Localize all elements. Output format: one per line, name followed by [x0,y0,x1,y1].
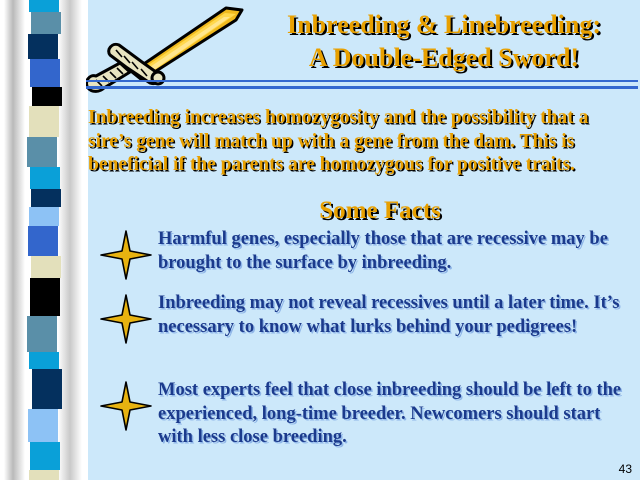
color-band [29,207,59,226]
page-number: 43 [619,462,632,476]
color-band [31,189,61,207]
star-bullet-icon [100,381,152,431]
color-band [29,0,59,12]
color-band [32,369,62,409]
body-paragraph: Inbreeding increases homozygosity and th… [88,106,633,177]
color-band [29,352,59,369]
subheading-some-facts: Some Facts [170,197,590,225]
color-band [27,316,57,352]
sword-quillon-ring [152,72,164,84]
title-divider-line-lower [86,86,638,89]
title-divider-line-upper [86,80,638,82]
sword-clipart [86,0,266,105]
color-band [30,59,60,87]
star-bullet-icon [100,230,152,280]
color-band [30,278,60,316]
bullet-text-3: Most experts feel that close inbreeding … [158,379,636,450]
page-title: Inbreeding & Linebreeding: A Double-Edge… [248,8,640,74]
color-band [31,12,61,34]
bullet-text-1: Harmful genes, especially those that are… [158,228,636,275]
color-band [30,442,60,470]
decorative-left-band [0,0,88,480]
decorative-color-strip [29,0,59,480]
bullet-text-2: Inbreeding may not reveal recessives unt… [158,292,636,339]
color-band [29,470,59,480]
color-band [28,226,58,256]
color-band [32,87,62,106]
color-band [31,256,61,278]
slide-canvas: Inbreeding & Linebreeding: A Double-Edge… [0,0,640,480]
color-band [29,106,59,137]
title-line-1: Inbreeding & Linebreeding: [248,8,640,41]
star-bullet-icon [100,294,152,344]
title-line-2: A Double-Edged Sword! [248,41,640,74]
color-band [30,167,60,189]
color-band [28,409,58,442]
color-band [28,34,58,59]
color-band [27,137,57,167]
